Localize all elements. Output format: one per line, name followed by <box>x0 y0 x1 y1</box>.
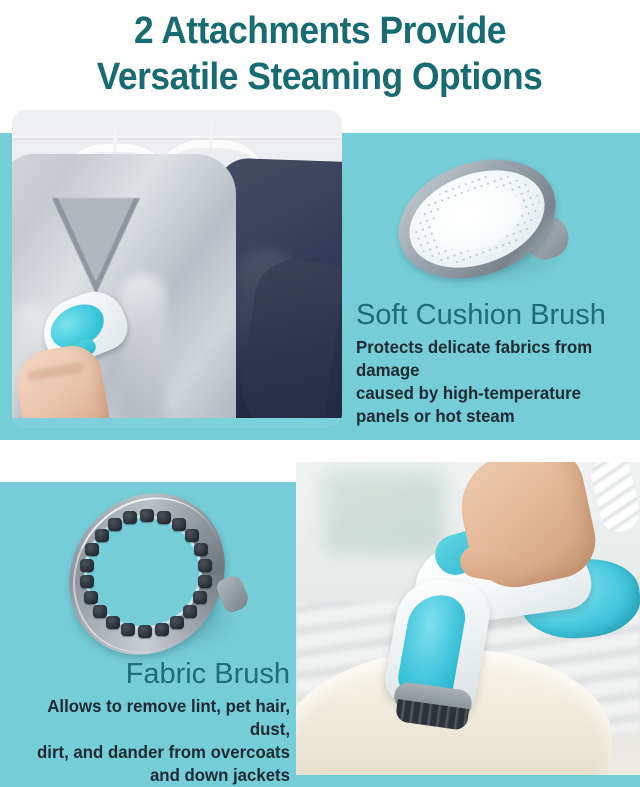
fabric-brush-bristle-tuft <box>157 511 171 524</box>
cushion-outer-rim <box>382 139 573 300</box>
fabric-brush-bristle-tuft <box>198 575 212 588</box>
fabric-brush-title: Fabric Brush <box>6 657 290 691</box>
fabric-brush-bristle-tufts <box>62 495 252 661</box>
fabric-brush-bristle-tuft <box>138 625 152 638</box>
fabric-brush-bristle-tuft <box>198 559 212 572</box>
fabric-brush-bristle-tuft <box>193 591 207 604</box>
photo-bottom-teal-strip <box>12 418 342 428</box>
soft-cushion-brush-description-line-3: panels or hot steam <box>356 405 623 428</box>
fabric-brush-icon <box>62 495 252 661</box>
fabric-brush-bristle-tuft <box>170 616 184 629</box>
fabric-brush-bristle-tuft <box>108 518 122 531</box>
fabric-brush-bristle-tuft <box>84 591 98 604</box>
fabric-brush-description-line-3: and down jackets <box>17 764 290 787</box>
fabric-brush-bristle-tuft <box>183 605 197 618</box>
steamer-on-pillow-photo <box>296 462 640 775</box>
soft-cushion-brush-title: Soft Cushion Brush <box>356 298 634 332</box>
fabric-brush-bristle-tuft <box>123 511 137 524</box>
fabric-brush-bristle-tuft <box>93 605 107 618</box>
fabric-brush-bristle-tuft <box>106 616 120 629</box>
soft-cushion-brush-icon <box>396 163 574 285</box>
fabric-brush-bristle-tuft <box>172 518 186 531</box>
fabric-brush-bristle-tuft <box>155 623 169 636</box>
page-title-line-2: Versatile Steaming Options <box>97 54 543 100</box>
fabric-brush-bristle-tuft <box>121 623 135 636</box>
soft-cushion-brush-text: Soft Cushion Brush Protects delicate fab… <box>356 298 634 428</box>
fabric-brush-text: Fabric Brush Allows to remove lint, pet … <box>6 657 290 787</box>
fabric-brush-bristle-tuft <box>194 543 208 556</box>
steamer-on-blouse-photo <box>12 110 342 428</box>
page-title-line-1: 2 Attachments Provide <box>134 8 506 54</box>
blouse-fold-highlight-a <box>120 274 166 428</box>
soft-cushion-brush-description-line-2: caused by high-temperature <box>356 382 623 405</box>
fabric-brush-bristle-tuft <box>80 559 94 572</box>
fabric-brush-description-line-2: dirt, and dander from overcoats <box>17 741 290 764</box>
soft-cushion-brush-description-line-1: Protects delicate fabrics from damage <box>356 336 623 382</box>
fabric-brush-bristle-tuft <box>85 543 99 556</box>
page-title: 2 Attachments Provide Versatile Steaming… <box>0 0 640 108</box>
fabric-brush-bristle-tuft <box>80 575 94 588</box>
fabric-brush-bristle-tuft <box>185 529 199 542</box>
fabric-brush-bristle-tuft <box>95 529 109 542</box>
fabric-brush-bristle-tuft <box>140 509 154 522</box>
closet-rail <box>12 136 342 140</box>
fabric-brush-description-line-1: Allows to remove lint, pet hair, dust, <box>17 695 290 741</box>
